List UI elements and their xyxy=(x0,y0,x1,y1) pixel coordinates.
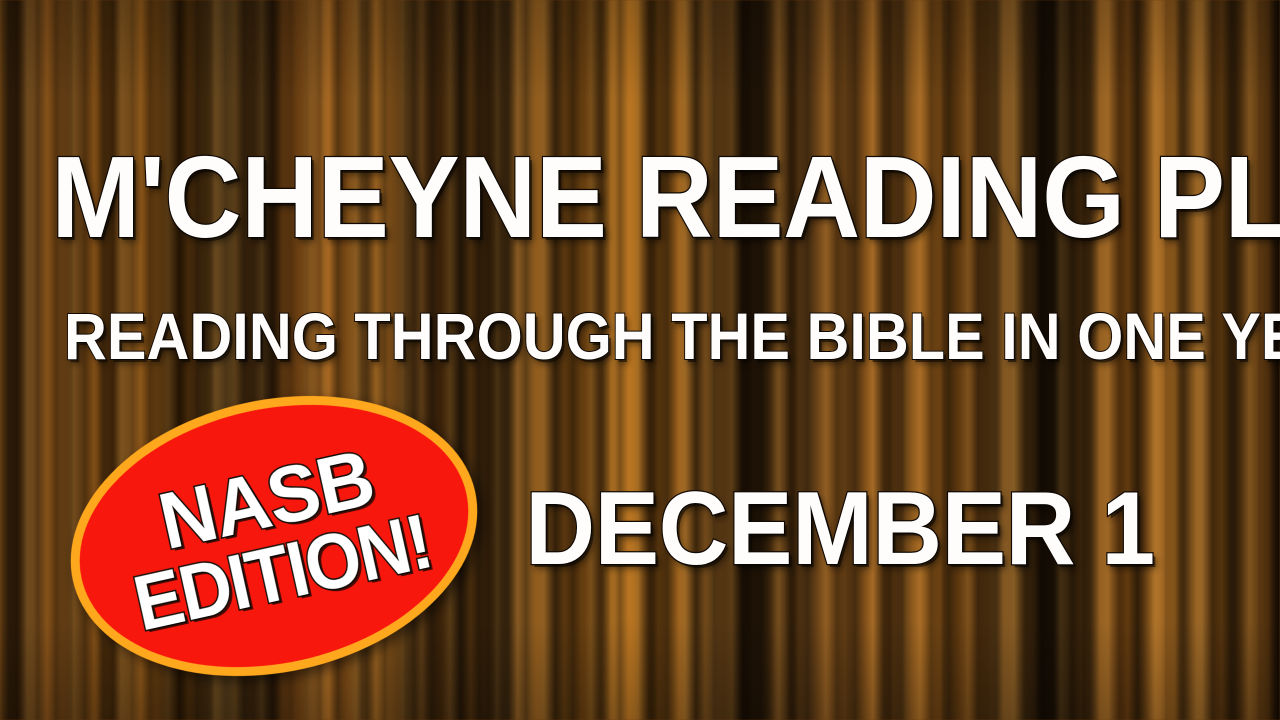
date-label: DECEMBER 1 xyxy=(496,477,1184,581)
poster-canvas: M'CHEYNE READING PLAN READING THROUGH TH… xyxy=(0,0,1280,720)
page-subtitle: READING THROUGH THE BIBLE IN ONE YEAR xyxy=(64,303,1216,369)
page-title: M'CHEYNE READING PLAN xyxy=(51,139,1229,255)
